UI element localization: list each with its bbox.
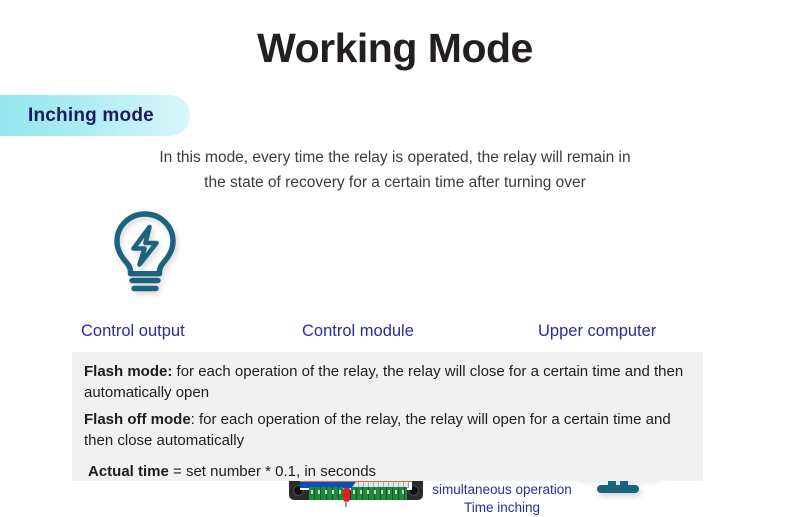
page-title: Working Mode	[0, 26, 790, 71]
flash-mode-paragraph: Flash mode: for each operation of the re…	[84, 361, 691, 404]
lightbulb-icon	[108, 210, 182, 296]
caption-control-module: Control module	[302, 322, 414, 341]
module-bottom-terminal-right	[351, 487, 407, 500]
actual-time-paragraph: Actual time = set number * 0.1, in secon…	[88, 461, 691, 482]
actual-time-body: = set number * 0.1, in seconds	[169, 463, 376, 480]
mode-description: In this mode, every time the relay is op…	[95, 145, 695, 195]
flash-off-mode-paragraph: Flash off mode: for each operation of th…	[84, 409, 691, 452]
flash-mode-body: for each operation of the relay, the rel…	[84, 363, 683, 401]
description-line-2: the state of recovery for a certain time…	[95, 170, 695, 195]
mode-details-panel: Flash mode: for each operation of the re…	[72, 352, 703, 481]
support-line: Time inching	[422, 499, 582, 517]
mode-badge: Inching mode	[0, 95, 190, 136]
module-power-led	[343, 488, 350, 502]
mode-badge-label: Inching mode	[28, 105, 154, 127]
flash-mode-title: Flash mode:	[84, 363, 172, 380]
caption-upper-computer: Upper computer	[538, 322, 656, 341]
caption-control-output: Control output	[81, 322, 185, 341]
description-line-1: In this mode, every time the relay is op…	[95, 145, 695, 170]
actual-time-title: Actual time	[88, 463, 169, 480]
flash-off-mode-title: Flash off mode	[84, 411, 191, 428]
support-line: simultaneous operation	[422, 481, 582, 499]
module-bottom-terminal-left	[309, 487, 343, 500]
diagram-captions: Control output Control module Upper comp…	[0, 322, 790, 346]
